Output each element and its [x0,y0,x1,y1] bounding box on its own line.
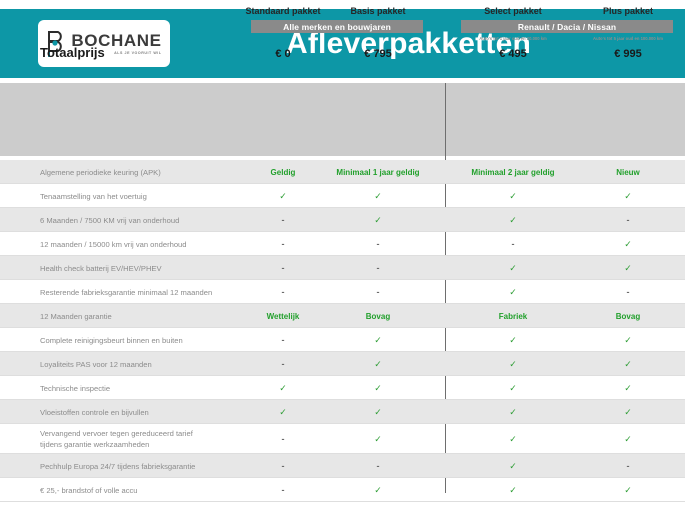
feature-value-col0: - [235,263,331,273]
table-row: 12 Maanden garantieWettelijkBovagFabriek… [0,304,685,328]
package-title-3: Plus pakket [578,6,678,16]
table-row: 6 Maanden / 7500 KM vrij van onderhoud-✓… [0,208,685,232]
feature-value-col0: - [235,215,331,225]
feature-value-col1: ✓ [330,434,426,445]
brand-scope-bar-1: Renault / Dacia / Nissan [461,20,673,33]
feature-value-col3: ✓ [578,383,678,394]
feature-value-col3: ✓ [578,263,678,274]
package-price-1: € 795 [330,48,426,60]
feature-value-col3: ✓ [578,485,678,496]
table-row: Vervangend vervoer tegen gereduceerd tar… [0,424,685,454]
feature-value-col2: ✓ [463,434,563,445]
feature-value-col0: ✓ [235,407,331,418]
feature-table: Algemene periodieke keuring (APK)GeldigM… [0,160,685,502]
feature-value-col1: ✓ [330,215,426,226]
feature-value-col0: - [235,335,331,345]
feature-value-col2: ✓ [463,407,563,418]
package-price-2: € 495 [463,48,563,60]
table-row: 12 maanden / 15000 km vrij van onderhoud… [0,232,685,256]
feature-value-col1: ✓ [330,335,426,346]
feature-value-col0: - [235,485,331,495]
feature-label: Vervangend vervoer tegen gereduceerd tar… [40,428,193,450]
feature-value-col1: - [330,287,426,297]
feature-value-col1: ✓ [330,485,426,496]
feature-value-col2: ✓ [463,383,563,394]
table-row: Technische inspectie✓✓✓✓ [0,376,685,400]
feature-value-col3: - [578,287,678,297]
feature-value-col1: - [330,239,426,249]
brand-scope-bar-0: Alle merken en bouwjaren [251,20,423,33]
feature-label: 6 Maanden / 7500 KM vrij van onderhoud [40,215,179,226]
feature-value-col0: Wettelijk [235,312,331,321]
feature-label: Loyaliteits PAS voor 12 maanden [40,359,152,370]
feature-value-col0: ✓ [235,383,331,394]
feature-value-col1: ✓ [330,359,426,370]
package-note-2: Auto's tot 1 jaar oud en 20.000 km [463,36,563,41]
feature-value-col2: ✓ [463,215,563,226]
totaalprijs-label-text: Totaalprijs [40,45,105,60]
table-row: Tenaamstelling van het voertuig✓✓✓✓ [0,184,685,208]
feature-label: Complete reinigingsbeurt binnen en buite… [40,335,183,346]
feature-value-col1: Bovag [330,312,426,321]
feature-value-col3: - [578,215,678,225]
feature-value-col3: ✓ [578,359,678,370]
package-header-strip [0,83,685,156]
feature-value-col0: - [235,461,331,471]
feature-value-col1: ✓ [330,191,426,202]
feature-value-col2: ✓ [463,263,563,274]
table-row: Loyaliteits PAS voor 12 maanden-✓✓✓ [0,352,685,376]
feature-value-col1: - [330,263,426,273]
package-note-3: Auto's tot 5 jaar oud en 100.000 km [578,36,678,41]
feature-value-col0: - [235,434,331,444]
feature-label: 12 maanden / 15000 km vrij van onderhoud [40,239,187,250]
table-row: Health check batterij EV/HEV/PHEV--✓✓ [0,256,685,280]
feature-value-col1: - [330,461,426,471]
feature-value-col1: ✓ [330,407,426,418]
feature-value-col2: ✓ [463,359,563,370]
feature-label: € 25,- brandstof of volle accu [40,485,138,496]
feature-label: Pechhulp Europa 24/7 tijdens fabrieksgar… [40,461,195,472]
feature-value-col3: - [578,461,678,471]
feature-value-col3: ✓ [578,407,678,418]
feature-value-col1: Minimaal 1 jaar geldig [330,168,426,177]
package-title-1: Basis pakket [330,6,426,16]
feature-value-col3: Nieuw [578,168,678,177]
row-separator [0,501,685,502]
feature-value-col3: ✓ [578,239,678,250]
feature-label: Tenaamstelling van het voertuig [40,191,147,202]
feature-value-col3: ✓ [578,434,678,445]
feature-value-col0: - [235,287,331,297]
feature-label: 12 Maanden garantie [40,311,112,322]
feature-value-col0: ✓ [235,191,331,202]
feature-value-col0: - [235,239,331,249]
feature-label: Vloeistoffen controle en bijvullen [40,407,149,418]
feature-value-col2: ✓ [463,485,563,496]
table-row: € 25,- brandstof of volle accu-✓✓✓ [0,478,685,502]
feature-value-col2: Fabriek [463,312,563,321]
feature-value-col2: - [463,239,563,249]
feature-value-col0: Geldig [235,168,331,177]
feature-label: Health check batterij EV/HEV/PHEV [40,263,162,274]
table-row: Pechhulp Europa 24/7 tijdens fabrieksgar… [0,454,685,478]
feature-label: Algemene periodieke keuring (APK) [40,167,161,178]
feature-label: Resterende fabrieksgarantie minimaal 12 … [40,287,212,298]
package-header-columns: Alle merken en bouwjarenStandaard pakket… [0,0,685,73]
package-price-0: € 0 [235,48,331,60]
table-row: Algemene periodieke keuring (APK)GeldigM… [0,160,685,184]
feature-value-col2: ✓ [463,335,563,346]
feature-value-col2: Minimaal 2 jaar geldig [463,168,563,177]
afleverpakketten-comparison-page: BOCHANE ALS JE VOORUIT WIL Afleverpakket… [0,0,685,514]
package-title-0: Standaard pakket [235,6,331,16]
table-row: Resterende fabrieksgarantie minimaal 12 … [0,280,685,304]
package-title-2: Select pakket [463,6,563,16]
feature-value-col2: ✓ [463,191,563,202]
table-row: Complete reinigingsbeurt binnen en buite… [0,328,685,352]
package-price-3: € 995 [578,48,678,60]
feature-value-col0: - [235,359,331,369]
feature-value-col3: Bovag [578,312,678,321]
table-row: Vloeistoffen controle en bijvullen✓✓✓✓ [0,400,685,424]
feature-label: Technische inspectie [40,383,110,394]
feature-value-col2: ✓ [463,461,563,472]
feature-value-col3: ✓ [578,335,678,346]
feature-value-col2: ✓ [463,287,563,298]
feature-value-col1: ✓ [330,383,426,394]
feature-value-col3: ✓ [578,191,678,202]
